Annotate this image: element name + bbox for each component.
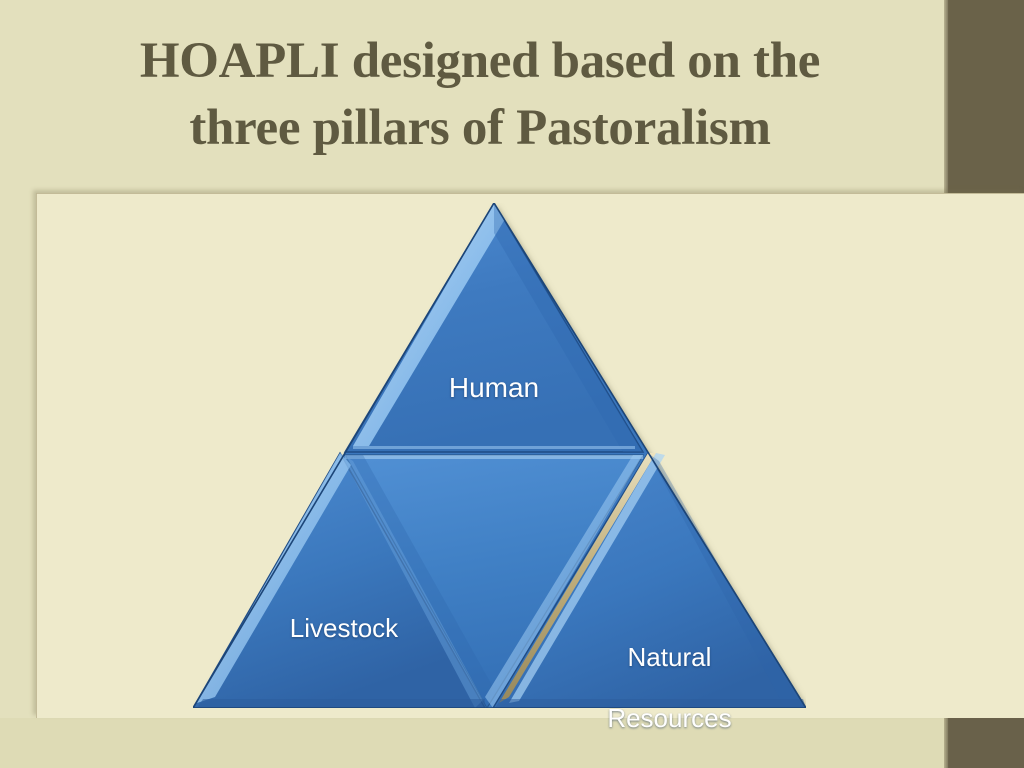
pyramid-label-human: Human <box>394 371 594 404</box>
slide-background-lower-band <box>0 718 948 768</box>
slide-canvas: HOAPLI designed based on the three pilla… <box>0 0 1024 768</box>
page-title-line-2: three pillars of Pastoralism <box>40 95 920 162</box>
pyramid-label-natural-resources: Natural Resources <box>551 611 759 764</box>
page-title: HOAPLI designed based on the three pilla… <box>40 28 920 163</box>
pyramid-segment-human <box>345 203 643 452</box>
content-panel-left-border <box>36 193 37 718</box>
pyramid-label-natural-resources-line-2: Resources <box>607 703 731 733</box>
pyramid-label-natural-resources-line-1: Natural <box>628 642 712 672</box>
page-title-line-1: HOAPLI designed based on the <box>40 28 920 95</box>
content-panel-top-border <box>36 193 1024 194</box>
pyramid-label-livestock: Livestock <box>244 613 444 644</box>
